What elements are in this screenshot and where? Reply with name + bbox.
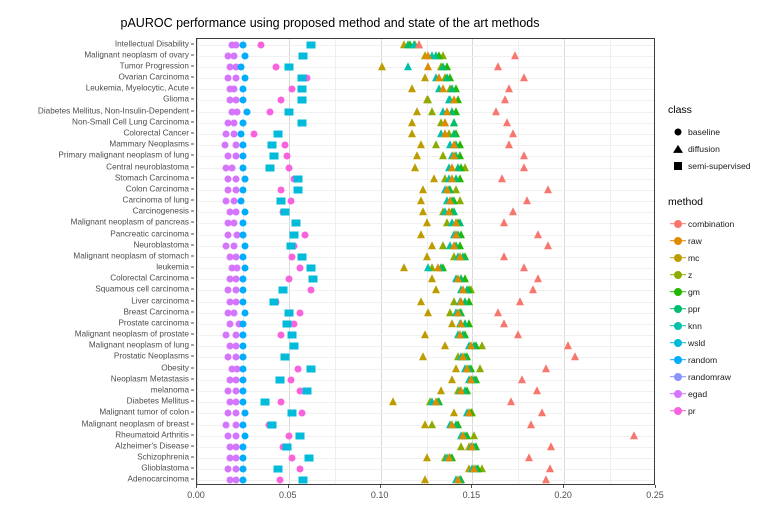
- data-point: [230, 130, 237, 137]
- data-point: [225, 186, 232, 193]
- legend-class-item[interactable]: semi-supervised: [668, 157, 773, 174]
- data-point: [232, 376, 239, 383]
- y-tick-mark: [191, 121, 194, 122]
- data-point: [424, 96, 432, 104]
- data-point: [278, 186, 285, 193]
- data-point: [454, 476, 462, 484]
- data-point: [450, 129, 458, 137]
- circle-marker-icon: [668, 123, 688, 140]
- y-tick-mark: [191, 322, 194, 323]
- y-tick-label: Neuroblastoma: [133, 240, 189, 249]
- y-tick-mark: [191, 278, 194, 279]
- legend-method-item[interactable]: gm: [668, 283, 773, 300]
- y-tick-mark: [191, 311, 194, 312]
- data-point: [306, 365, 315, 372]
- gridline-minor: [610, 39, 611, 484]
- gridline-row: [197, 45, 654, 46]
- data-point: [459, 431, 467, 439]
- data-point: [509, 129, 517, 137]
- data-point: [232, 253, 239, 260]
- y-tick-mark: [191, 300, 194, 301]
- legend-method-label: combination: [688, 219, 734, 229]
- data-point: [533, 386, 541, 394]
- data-point: [432, 286, 440, 294]
- y-tick-label: Glioblastoma: [141, 464, 189, 473]
- gridline-row: [197, 123, 654, 124]
- data-point: [443, 107, 451, 115]
- data-point: [456, 330, 464, 338]
- data-point: [511, 51, 519, 59]
- data-point: [267, 108, 274, 115]
- legend-method-item[interactable]: ppr: [668, 300, 773, 317]
- y-tick-mark: [191, 267, 194, 268]
- data-point: [284, 108, 293, 115]
- chart-title: pAUROC performance using proposed method…: [0, 16, 660, 30]
- data-point: [239, 455, 246, 462]
- legend-class-item[interactable]: baseline: [668, 123, 773, 140]
- data-point: [400, 263, 408, 271]
- data-point: [232, 298, 239, 305]
- data-point: [278, 332, 285, 339]
- data-point: [441, 118, 449, 126]
- gridline-major: [197, 39, 198, 484]
- y-tick-mark: [191, 200, 194, 201]
- gridline-minor: [518, 39, 519, 484]
- data-point: [413, 152, 421, 160]
- data-point: [432, 140, 440, 148]
- data-point: [423, 252, 431, 260]
- y-tick-mark: [191, 412, 194, 413]
- data-point: [239, 365, 246, 372]
- y-tick-label: Adenocarcinoma: [128, 475, 189, 484]
- y-tick-mark: [191, 43, 194, 44]
- data-point: [283, 153, 290, 160]
- gridline-row: [197, 469, 654, 470]
- data-point: [571, 353, 579, 361]
- y-tick-mark: [191, 423, 194, 424]
- data-point: [443, 185, 451, 193]
- data-point: [239, 41, 246, 48]
- data-point: [225, 466, 232, 473]
- legend-method-item[interactable]: egad: [668, 385, 773, 402]
- data-point: [500, 219, 508, 227]
- data-point: [282, 142, 289, 149]
- data-point: [454, 308, 462, 316]
- gridline-row: [197, 235, 654, 236]
- data-point: [239, 343, 246, 350]
- x-tick-label: 0.00: [187, 490, 205, 500]
- data-point: [297, 86, 306, 93]
- data-point: [221, 142, 228, 149]
- data-point: [239, 354, 246, 361]
- data-point: [282, 320, 291, 327]
- data-point: [520, 73, 528, 81]
- method-color-key-icon: [668, 368, 688, 385]
- gridline-row: [197, 145, 654, 146]
- data-point: [408, 118, 416, 126]
- data-point: [285, 432, 292, 439]
- data-point: [287, 198, 294, 205]
- data-point: [415, 40, 423, 48]
- data-point: [232, 343, 239, 350]
- data-point: [225, 153, 232, 160]
- data-point: [450, 96, 458, 104]
- data-point: [417, 230, 425, 238]
- data-point: [275, 376, 284, 383]
- data-point: [494, 62, 502, 70]
- data-point: [296, 309, 303, 316]
- y-tick-label: Mammary Neoplasms: [109, 140, 189, 149]
- legend-method-item[interactable]: pr: [668, 402, 773, 419]
- legend: class baselinediffusionsemi-supervised m…: [668, 104, 773, 419]
- y-tick-mark: [191, 356, 194, 357]
- data-point: [290, 231, 299, 238]
- legend-method-rows: combinationrawmczgmpprknnwsldrandomrando…: [668, 215, 773, 419]
- data-point: [284, 63, 293, 70]
- data-point: [258, 41, 265, 48]
- y-tick-mark: [191, 144, 194, 145]
- data-point: [241, 265, 248, 272]
- data-point: [454, 274, 462, 282]
- gridline-row: [197, 89, 654, 90]
- data-point: [223, 421, 230, 428]
- legend-method-label: z: [688, 270, 692, 280]
- x-tick-label: 0.25: [646, 490, 664, 500]
- data-point: [452, 219, 460, 227]
- method-color-key-icon: [668, 249, 688, 266]
- data-point: [439, 62, 447, 70]
- gridline-major: [381, 39, 382, 484]
- y-tick-label: Prostatic Neoplasms: [114, 352, 189, 361]
- y-tick-label: Carcinoma of lung: [123, 196, 189, 205]
- data-point: [225, 354, 232, 361]
- square-marker-icon: [668, 157, 688, 174]
- data-point: [446, 196, 454, 204]
- data-point: [225, 231, 232, 238]
- data-point: [432, 397, 440, 405]
- y-tick-mark: [191, 211, 194, 212]
- data-point: [520, 152, 528, 160]
- data-point: [501, 96, 509, 104]
- data-point: [232, 287, 239, 294]
- data-point: [276, 477, 283, 484]
- data-point: [232, 421, 239, 428]
- gridline-row: [197, 413, 654, 414]
- data-point: [498, 174, 506, 182]
- data-point: [285, 164, 292, 171]
- data-point: [500, 252, 508, 260]
- y-tick-label: Intellectual Disability: [115, 39, 189, 48]
- data-point: [241, 309, 248, 316]
- y-tick-mark: [191, 334, 194, 335]
- data-point: [544, 185, 552, 193]
- y-tick-label: Carcinogenesis: [133, 207, 189, 216]
- y-tick-mark: [191, 378, 194, 379]
- y-tick-label: Non-Small Cell Lung Carcinoma: [72, 117, 189, 126]
- data-point: [456, 252, 464, 260]
- y-tick-mark: [191, 244, 194, 245]
- legend-method-label: random: [688, 355, 717, 365]
- y-tick-label: Malignant neoplasm of pancreas: [71, 218, 189, 227]
- y-tick-mark: [191, 110, 194, 111]
- y-tick-mark: [191, 445, 194, 446]
- data-point: [434, 263, 442, 271]
- y-tick-label: Alzheimer's Disease: [115, 441, 189, 450]
- data-point: [241, 432, 248, 439]
- method-color-key-icon: [668, 283, 688, 300]
- y-tick-mark: [191, 457, 194, 458]
- data-point: [284, 309, 293, 316]
- y-tick-mark: [191, 77, 194, 78]
- data-point: [278, 399, 285, 406]
- x-tick-label: 0.15: [463, 490, 481, 500]
- legend-class-label: diffusion: [688, 144, 720, 154]
- data-point: [518, 375, 526, 383]
- data-point: [239, 186, 246, 193]
- data-point: [232, 41, 239, 48]
- data-point: [459, 353, 467, 361]
- data-point: [232, 97, 239, 104]
- method-color-key-icon: [668, 334, 688, 351]
- data-point: [439, 152, 447, 160]
- gridline-row: [197, 179, 654, 180]
- legend-method-item[interactable]: z: [668, 266, 773, 283]
- data-point: [273, 130, 282, 137]
- data-point: [232, 153, 239, 160]
- legend-class-group: class baselinediffusionsemi-supervised: [668, 104, 773, 174]
- legend-method-item[interactable]: knn: [668, 317, 773, 334]
- data-point: [564, 342, 572, 350]
- data-point: [520, 163, 528, 171]
- y-tick-mark: [191, 88, 194, 89]
- data-point: [239, 287, 246, 294]
- gridline-major: [564, 39, 565, 484]
- data-point: [279, 287, 288, 294]
- data-point: [443, 73, 451, 81]
- data-point: [423, 219, 431, 227]
- data-point: [239, 153, 246, 160]
- legend-method-item[interactable]: combination: [668, 215, 773, 232]
- data-point: [268, 142, 277, 149]
- data-point: [292, 220, 301, 227]
- x-tick-label: 0.20: [554, 490, 572, 500]
- data-point: [525, 453, 533, 461]
- data-point: [308, 276, 317, 283]
- legend-method-label: raw: [688, 236, 702, 246]
- data-point: [239, 142, 246, 149]
- data-point: [228, 164, 235, 171]
- data-point: [225, 410, 232, 417]
- data-point: [421, 330, 429, 338]
- x-axis: 0.000.050.100.150.200.25: [196, 485, 655, 515]
- data-point: [225, 287, 232, 294]
- data-point: [503, 118, 511, 126]
- data-point: [281, 209, 290, 216]
- data-point: [293, 175, 302, 182]
- y-tick-mark: [191, 155, 194, 156]
- y-tick-label: Colorectal Cancer: [123, 128, 189, 137]
- gridline-row: [197, 391, 654, 392]
- legend-method-item[interactable]: randomraw: [668, 368, 773, 385]
- x-tick-mark: [655, 485, 656, 488]
- data-point: [223, 130, 230, 137]
- y-tick-label: Liver carcinoma: [131, 296, 189, 305]
- y-tick-label: Prostate carcinoma: [118, 318, 189, 327]
- data-point: [232, 332, 239, 339]
- data-point: [290, 343, 299, 350]
- data-point: [630, 431, 638, 439]
- method-color-key-icon: [668, 351, 688, 368]
- data-point: [424, 308, 432, 316]
- data-point: [445, 207, 453, 215]
- legend-method-item[interactable]: random: [668, 351, 773, 368]
- data-point: [417, 297, 425, 305]
- data-point: [465, 409, 473, 417]
- y-tick-mark: [191, 401, 194, 402]
- data-point: [232, 466, 239, 473]
- gridline-row: [197, 369, 654, 370]
- y-tick-label: Leukemia, Myelocytic, Acute: [86, 84, 189, 93]
- data-point: [417, 140, 425, 148]
- data-point: [298, 410, 305, 417]
- data-point: [295, 432, 304, 439]
- data-point: [439, 84, 447, 92]
- data-point: [239, 332, 246, 339]
- y-tick-label: Stomach Carcinoma: [115, 173, 189, 182]
- y-tick-mark: [191, 132, 194, 133]
- data-point: [507, 397, 515, 405]
- gridline-minor: [243, 39, 244, 484]
- data-point: [232, 399, 239, 406]
- y-tick-mark: [191, 188, 194, 189]
- y-tick-label: Colorectal Carcinoma: [110, 274, 189, 283]
- y-tick-label: Ovarian Carcinoma: [118, 73, 189, 82]
- data-point: [278, 97, 285, 104]
- data-point: [232, 276, 239, 283]
- method-color-key-icon: [668, 300, 688, 317]
- data-point: [288, 332, 297, 339]
- data-point: [223, 198, 230, 205]
- data-point: [452, 230, 460, 238]
- data-point: [404, 62, 412, 70]
- y-tick-label: Breast Carcinoma: [123, 307, 189, 316]
- data-point: [239, 466, 246, 473]
- data-point: [232, 455, 239, 462]
- data-point: [306, 265, 315, 272]
- data-point: [470, 431, 478, 439]
- data-point: [423, 453, 431, 461]
- data-point: [419, 353, 427, 361]
- method-color-key-icon: [668, 317, 688, 334]
- y-tick-label: Malignant tumor of colon: [99, 408, 189, 417]
- data-point: [534, 274, 542, 282]
- gridline-row: [197, 156, 654, 157]
- y-tick-label: Malignant neoplasm of lung: [89, 341, 189, 350]
- method-color-key-icon: [668, 385, 688, 402]
- data-point: [239, 320, 246, 327]
- data-point: [281, 354, 290, 361]
- data-point: [230, 119, 237, 126]
- data-point: [223, 242, 230, 249]
- legend-method-label: knn: [688, 321, 702, 331]
- data-point: [529, 286, 537, 294]
- data-point: [239, 253, 246, 260]
- data-point: [424, 263, 432, 271]
- y-tick-label: Pancreatic carcinoma: [110, 229, 189, 238]
- data-point: [450, 152, 458, 160]
- data-point: [250, 130, 257, 137]
- legend-method-item[interactable]: mc: [668, 249, 773, 266]
- data-point: [239, 443, 246, 450]
- data-point: [457, 442, 465, 450]
- gridline-major: [472, 39, 473, 484]
- x-tick-label: 0.05: [279, 490, 297, 500]
- y-tick-label: Squamous cell carcinoma: [95, 285, 189, 294]
- y-tick-mark: [191, 255, 194, 256]
- data-point: [268, 421, 277, 428]
- legend-class-label: semi-supervised: [688, 161, 751, 171]
- data-point: [234, 108, 241, 115]
- data-point: [421, 476, 429, 484]
- method-color-key-icon: [668, 215, 688, 232]
- data-point: [270, 153, 279, 160]
- legend-method-item[interactable]: wsld: [668, 334, 773, 351]
- data-point: [239, 399, 246, 406]
- y-tick-label: Malignant neoplasm of prostate: [75, 330, 189, 339]
- data-point: [303, 388, 312, 395]
- data-point: [542, 364, 550, 372]
- data-point: [514, 330, 522, 338]
- data-point: [282, 443, 291, 450]
- data-point: [389, 397, 397, 405]
- legend-class-item[interactable]: diffusion: [668, 140, 773, 157]
- data-point: [378, 62, 386, 70]
- data-point: [448, 84, 456, 92]
- data-point: [286, 242, 295, 249]
- data-point: [232, 443, 239, 450]
- data-point: [450, 241, 458, 249]
- data-point: [430, 174, 438, 182]
- data-point: [223, 332, 230, 339]
- x-tick-label: 0.10: [371, 490, 389, 500]
- legend-method-item[interactable]: raw: [668, 232, 773, 249]
- y-tick-mark: [191, 479, 194, 480]
- data-point: [467, 342, 475, 350]
- data-point: [467, 375, 475, 383]
- data-point: [225, 432, 232, 439]
- data-point: [492, 107, 500, 115]
- gridline-row: [197, 246, 654, 247]
- y-tick-mark: [191, 468, 194, 469]
- data-point: [297, 119, 306, 126]
- data-point: [230, 242, 237, 249]
- y-tick-mark: [191, 289, 194, 290]
- data-point: [230, 52, 237, 59]
- data-point: [239, 119, 246, 126]
- y-tick-label: Obesity: [161, 363, 189, 372]
- data-point: [297, 253, 306, 260]
- legend-method-title: method: [668, 196, 773, 208]
- data-point: [448, 174, 456, 182]
- data-point: [239, 231, 246, 238]
- data-point: [230, 86, 237, 93]
- data-point: [408, 129, 416, 137]
- gridline-row: [197, 201, 654, 202]
- y-tick-label: Neoplasm Metastasis: [111, 374, 189, 383]
- data-point: [232, 477, 239, 484]
- data-point: [448, 163, 456, 171]
- data-point: [239, 376, 246, 383]
